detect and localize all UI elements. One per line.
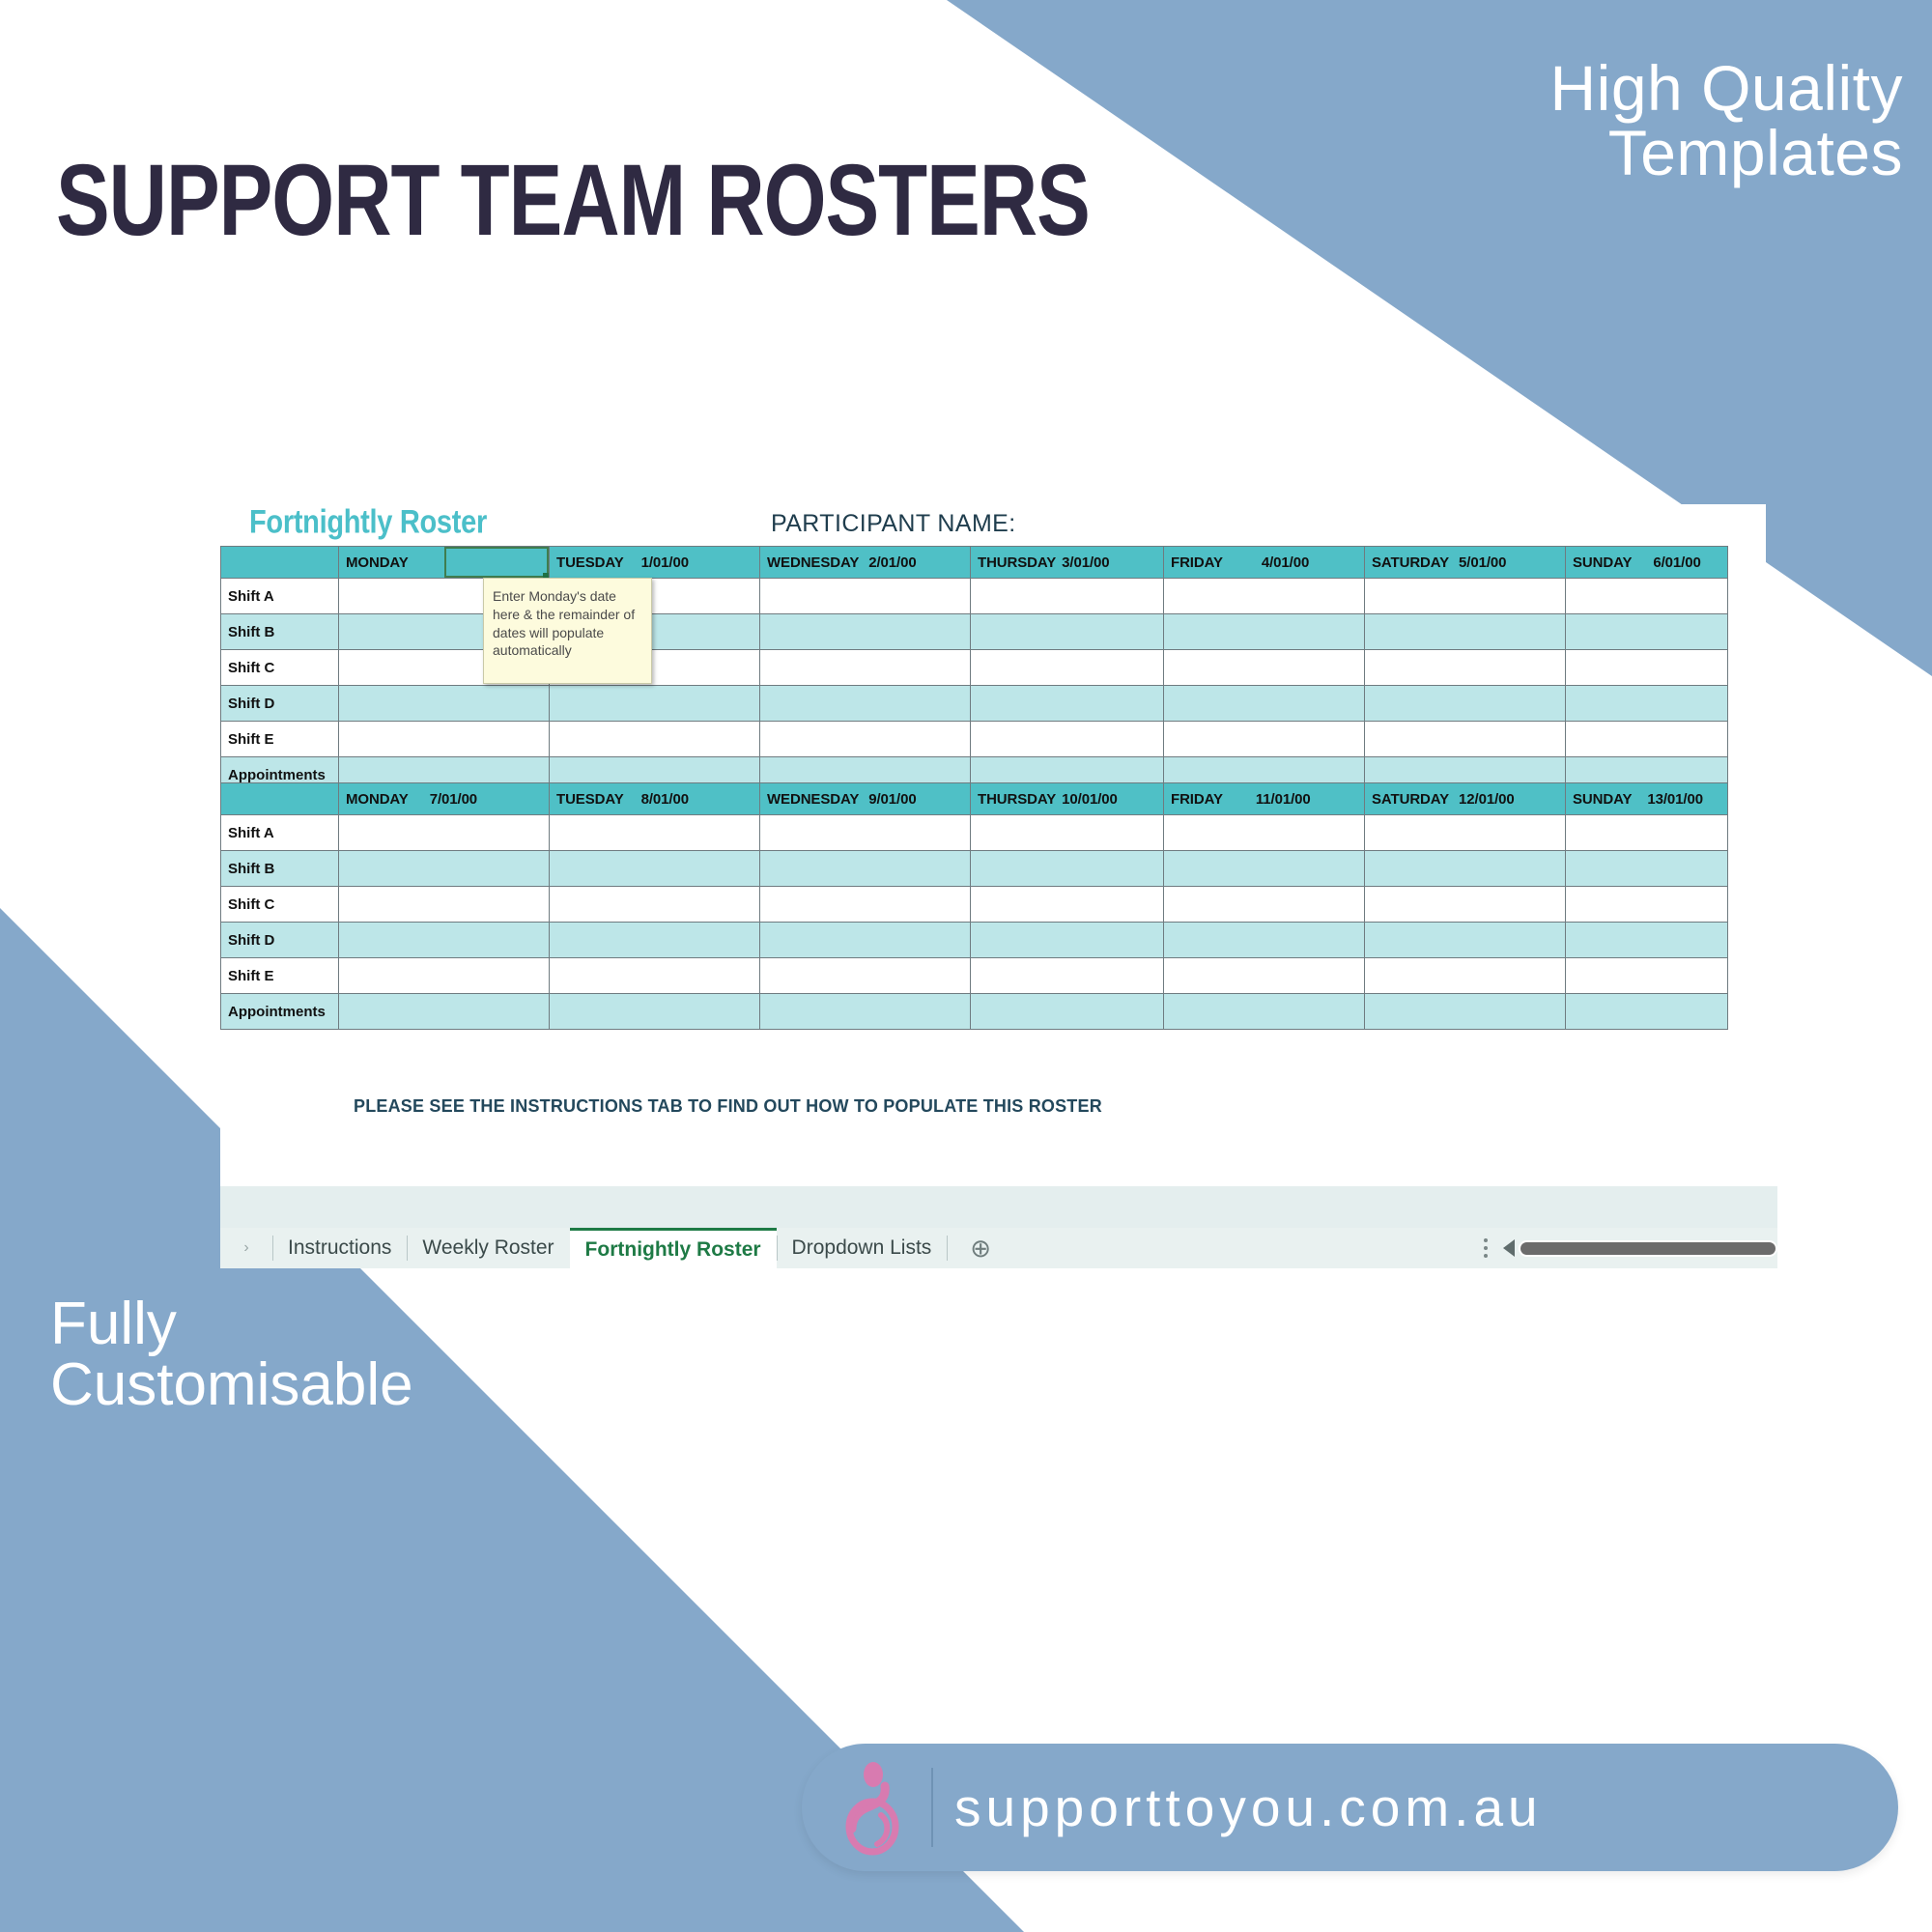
roster-cell[interactable] (1566, 579, 1728, 614)
roster-cell[interactable] (971, 815, 1164, 851)
roster-cell[interactable] (1365, 958, 1566, 994)
roster-cell[interactable] (760, 851, 971, 887)
day-name: SATURDAY (1372, 791, 1449, 808)
sheet-tab-row: › Instructions Weekly Roster Fortnightly… (220, 1228, 1777, 1268)
customisable-badge: Fully Customisable (50, 1293, 413, 1415)
roster-cell[interactable] (971, 994, 1164, 1030)
roster-cell[interactable] (1566, 994, 1728, 1030)
roster-cell[interactable] (1566, 958, 1728, 994)
day-date: 6/01/00 (1653, 554, 1700, 571)
roster-cell[interactable] (550, 958, 760, 994)
sheet-tab-weekly-roster[interactable]: Weekly Roster (407, 1228, 569, 1268)
roster-cell[interactable] (1365, 579, 1566, 614)
roster-cell[interactable] (760, 722, 971, 757)
sheet-tab-instructions[interactable]: Instructions (272, 1228, 407, 1268)
roster-cell[interactable] (1566, 686, 1728, 722)
day-date: 11/01/00 (1256, 791, 1311, 808)
day-name: THURSDAY (978, 791, 1056, 808)
participant-name-label: PARTICIPANT NAME: (771, 510, 1016, 538)
roster-cell[interactable] (971, 887, 1164, 923)
roster-cell[interactable] (1164, 994, 1365, 1030)
header-wednesday-week1[interactable]: WEDNESDAY2/01/00 (760, 547, 971, 579)
roster-cell[interactable] (760, 614, 971, 650)
roster-cell[interactable] (760, 994, 971, 1030)
roster-cell[interactable] (1365, 923, 1566, 958)
day-date: 1/01/00 (641, 554, 689, 571)
sheet-tab-fortnightly-roster[interactable]: Fortnightly Roster (570, 1228, 777, 1268)
roster-cell[interactable] (971, 851, 1164, 887)
row-label-shift-b: Shift B (221, 614, 339, 650)
roster-cell[interactable] (971, 958, 1164, 994)
roster-cell[interactable] (1365, 614, 1566, 650)
roster-table-week2: MONDAY7/01/00 TUESDAY8/01/00 WEDNESDAY9/… (220, 782, 1728, 1030)
scrollbar-thumb[interactable] (1520, 1242, 1776, 1255)
day-name: WEDNESDAY (767, 791, 859, 808)
table-header-row: MONDAY7/01/00 TUESDAY8/01/00 WEDNESDAY9/… (221, 783, 1728, 815)
roster-cell[interactable] (1566, 815, 1728, 851)
roster-cell[interactable] (550, 887, 760, 923)
roster-cell[interactable] (1365, 650, 1566, 686)
day-date: 4/01/00 (1262, 554, 1309, 571)
table-row: Shift A (221, 815, 1728, 851)
header-wednesday-week2[interactable]: WEDNESDAY9/01/00 (760, 783, 971, 815)
cell-comment-tooltip: Enter Monday's date here & the remainder… (483, 578, 652, 684)
roster-cell[interactable] (1365, 722, 1566, 757)
day-date: 13/01/00 (1647, 791, 1703, 808)
corner-header-cell (221, 783, 339, 815)
day-name: SUNDAY (1573, 791, 1632, 808)
day-date: 9/01/00 (868, 791, 916, 808)
roster-cell[interactable] (1566, 614, 1728, 650)
day-date: 10/01/00 (1062, 791, 1118, 808)
table-row: Shift D (221, 686, 1728, 722)
header-thursday-week1[interactable]: THURSDAY3/01/00 (971, 547, 1164, 579)
roster-cell[interactable] (1164, 887, 1365, 923)
day-name: FRIDAY (1171, 791, 1223, 808)
roster-cell[interactable] (1566, 851, 1728, 887)
roster-cell[interactable] (339, 686, 550, 722)
roster-cell[interactable] (971, 923, 1164, 958)
roster-cell[interactable] (1164, 958, 1365, 994)
roster-cell[interactable] (971, 650, 1164, 686)
roster-cell[interactable] (339, 923, 550, 958)
header-monday-week1[interactable]: MONDAY (339, 547, 550, 579)
sheet-tab-bar: › Instructions Weekly Roster Fortnightly… (220, 1186, 1777, 1268)
roster-cell[interactable] (550, 722, 760, 757)
header-tuesday-week1[interactable]: TUESDAY1/01/00 (550, 547, 760, 579)
roster-cell[interactable] (1164, 579, 1365, 614)
row-label-shift-d: Shift D (221, 923, 339, 958)
roster-cell[interactable] (1365, 887, 1566, 923)
day-name: FRIDAY (1171, 554, 1223, 571)
header-friday-week1[interactable]: FRIDAY4/01/00 (1164, 547, 1365, 579)
roster-cell[interactable] (339, 722, 550, 757)
day-name: SUNDAY (1573, 554, 1632, 571)
roster-cell[interactable] (760, 958, 971, 994)
customisable-line2: Customisable (50, 1354, 413, 1415)
day-name: TUESDAY (556, 554, 624, 571)
roster-cell[interactable] (760, 686, 971, 722)
row-label-shift-e: Shift E (221, 958, 339, 994)
roster-cell[interactable] (760, 650, 971, 686)
row-label-shift-a: Shift A (221, 815, 339, 851)
day-name: THURSDAY (978, 554, 1056, 571)
day-date: 2/01/00 (868, 554, 916, 571)
roster-cell[interactable] (550, 686, 760, 722)
roster-cell[interactable] (339, 851, 550, 887)
roster-cell[interactable] (1164, 722, 1365, 757)
roster-cell[interactable] (1365, 851, 1566, 887)
roster-cell[interactable] (1566, 722, 1728, 757)
row-label-shift-e: Shift E (221, 722, 339, 757)
roster-cell[interactable] (1365, 815, 1566, 851)
row-label-appointments: Appointments (221, 994, 339, 1030)
spreadsheet-screenshot: Fortnightly Roster PARTICIPANT NAME: MON… (220, 504, 1766, 1238)
roster-cell[interactable] (1566, 650, 1728, 686)
quality-badge-line2: Templates (1550, 121, 1904, 185)
logo-divider (931, 1768, 933, 1847)
horizontal-scroll-area (1484, 1230, 1777, 1266)
day-name: SATURDAY (1372, 554, 1449, 571)
row-label-shift-c: Shift C (221, 650, 339, 686)
roster-cell[interactable] (1164, 815, 1365, 851)
roster-cell[interactable] (550, 851, 760, 887)
roster-cell[interactable] (1164, 686, 1365, 722)
roster-cell[interactable] (550, 923, 760, 958)
sheet-nav-next-icon[interactable]: › (220, 1228, 272, 1268)
day-date: 12/01/00 (1459, 791, 1515, 808)
corner-header-cell (221, 547, 339, 579)
roster-cell[interactable] (1164, 851, 1365, 887)
add-sheet-icon[interactable]: ⊕ (947, 1228, 1010, 1268)
quality-badge-line1: High Quality (1550, 56, 1904, 121)
roster-cell[interactable] (760, 923, 971, 958)
day-name: TUESDAY (556, 791, 624, 808)
table-row: Shift D (221, 923, 1728, 958)
day-date: 8/01/00 (641, 791, 689, 808)
header-sunday-week2[interactable]: SUNDAY13/01/00 (1566, 783, 1728, 815)
day-date: 3/01/00 (1062, 554, 1109, 571)
roster-cell[interactable] (550, 994, 760, 1030)
roster-cell[interactable] (1164, 614, 1365, 650)
monday-label: MONDAY (339, 547, 444, 578)
roster-cell[interactable] (1566, 887, 1728, 923)
sheet-tab-dropdown-lists[interactable]: Dropdown Lists (777, 1228, 948, 1268)
scroll-left-icon[interactable] (1503, 1239, 1515, 1257)
table-row: Shift E (221, 958, 1728, 994)
table-header-row: MONDAY TUESDAY1/01/00 WEDNESDAY2/01/00 T… (221, 547, 1728, 579)
day-date: 5/01/00 (1459, 554, 1506, 571)
roster-cell[interactable] (971, 614, 1164, 650)
footer-instruction-note: PLEASE SEE THE INSTRUCTIONS TAB TO FIND … (354, 1096, 1102, 1117)
row-label-shift-b: Shift B (221, 851, 339, 887)
roster-cell[interactable] (1164, 650, 1365, 686)
header-friday-week2[interactable]: FRIDAY11/01/00 (1164, 783, 1365, 815)
roster-cell[interactable] (971, 686, 1164, 722)
roster-cell[interactable] (339, 958, 550, 994)
roster-cell[interactable] (1566, 923, 1728, 958)
header-tuesday-week2[interactable]: TUESDAY8/01/00 (550, 783, 760, 815)
header-sunday-week1[interactable]: SUNDAY6/01/00 (1566, 547, 1728, 579)
promo-graphic: SUPPORT TEAM ROSTERS High Quality Templa… (0, 0, 1932, 1932)
table-row: Appointments (221, 994, 1728, 1030)
day-date: 7/01/00 (430, 791, 477, 808)
roster-cell[interactable] (1365, 994, 1566, 1030)
horizontal-scrollbar[interactable] (1519, 1240, 1777, 1257)
roster-cell[interactable] (1365, 686, 1566, 722)
roster-cell[interactable] (339, 815, 550, 851)
table-row: Shift C (221, 650, 1728, 686)
roster-cell[interactable] (971, 579, 1164, 614)
row-label-shift-a: Shift A (221, 579, 339, 614)
page-title: SUPPORT TEAM ROSTERS (56, 143, 1090, 260)
row-label-shift-d: Shift D (221, 686, 339, 722)
quality-badge: High Quality Templates (1550, 56, 1904, 186)
roster-cell[interactable] (1164, 923, 1365, 958)
table-row: Shift B (221, 851, 1728, 887)
row-label-shift-c: Shift C (221, 887, 339, 923)
selected-date-input-cell[interactable] (444, 547, 550, 578)
table-row: Shift E (221, 722, 1728, 757)
roster-cell[interactable] (760, 815, 971, 851)
sheet-title: Fortnightly Roster (249, 504, 487, 542)
day-name: WEDNESDAY (767, 554, 859, 571)
header-saturday-week2[interactable]: SATURDAY12/01/00 (1365, 783, 1566, 815)
day-name: MONDAY (346, 791, 409, 808)
customisable-line1: Fully (50, 1293, 413, 1354)
header-monday-week2[interactable]: MONDAY7/01/00 (339, 783, 550, 815)
header-thursday-week2[interactable]: THURSDAY10/01/00 (971, 783, 1164, 815)
roster-cell[interactable] (339, 994, 550, 1030)
table-row: Shift B (221, 614, 1728, 650)
roster-cell[interactable] (760, 579, 971, 614)
person-figure-icon (840, 1759, 923, 1856)
website-url: supporttoyou.com.au (954, 1776, 1543, 1838)
more-options-icon[interactable] (1484, 1238, 1488, 1258)
roster-cell[interactable] (550, 815, 760, 851)
roster-cell[interactable] (971, 722, 1164, 757)
roster-cell[interactable] (760, 887, 971, 923)
roster-table-week1: MONDAY TUESDAY1/01/00 WEDNESDAY2/01/00 T… (220, 546, 1728, 793)
table-row: Shift C (221, 887, 1728, 923)
table-row: Shift A (221, 579, 1728, 614)
website-pill[interactable]: supporttoyou.com.au (802, 1744, 1898, 1871)
header-saturday-week1[interactable]: SATURDAY5/01/00 (1365, 547, 1566, 579)
roster-cell[interactable] (339, 887, 550, 923)
